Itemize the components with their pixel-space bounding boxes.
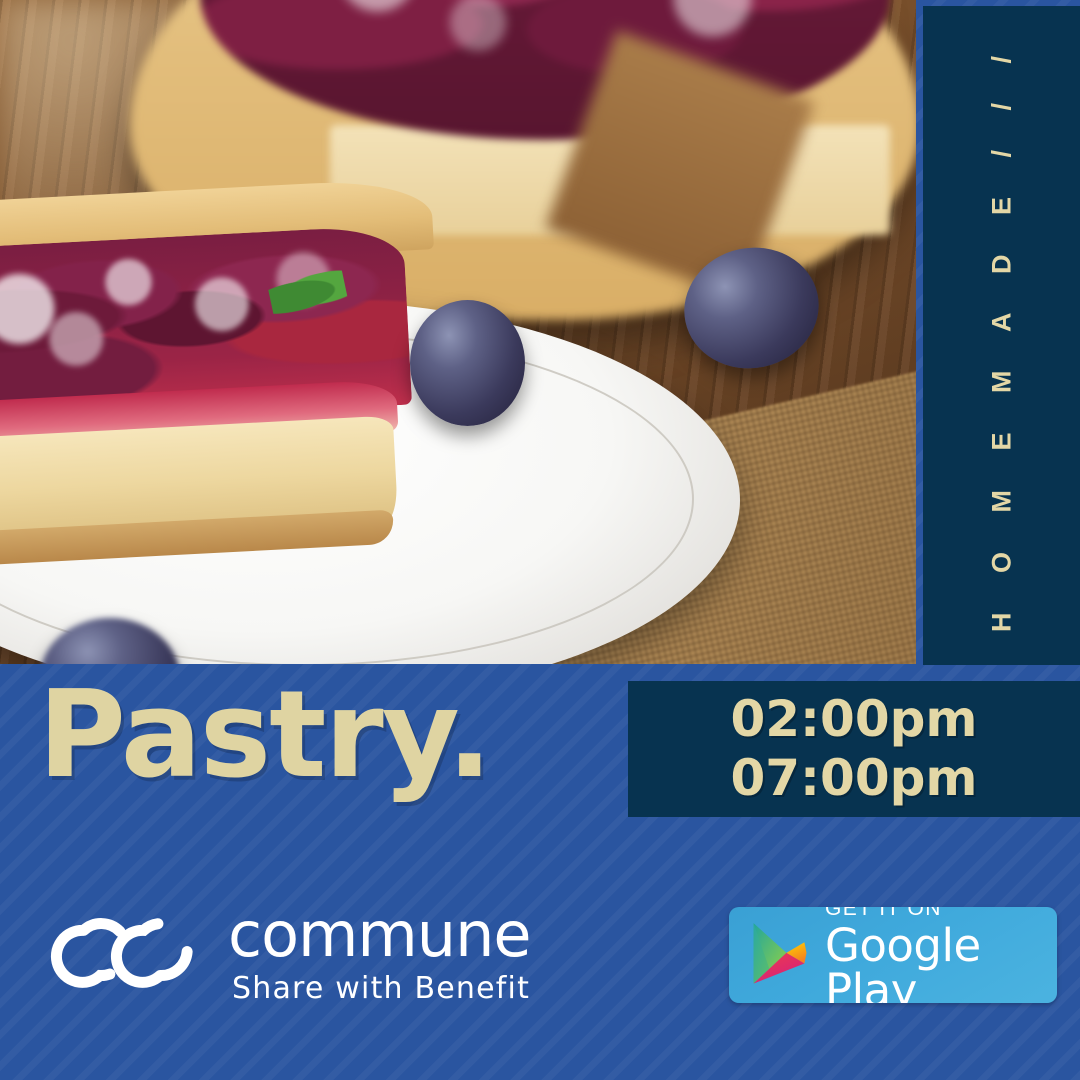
time-slot-2: 07:00pm (730, 749, 977, 808)
google-play-label: Google Play (825, 923, 1057, 1004)
slice-powdered-sugar (0, 229, 401, 403)
poster-canvas: H O M E M A D E / / / Pastry. 02:00pm 07… (0, 0, 1080, 1080)
google-play-triangle-icon (743, 920, 817, 990)
schedule-times-box: 02:00pm 07:00pm (628, 681, 1080, 817)
home-made-side-banner: H O M E M A D E / / / (923, 6, 1080, 665)
cake-slice (0, 177, 449, 563)
brand-logo-block: commune Share with Benefit (34, 900, 531, 1008)
page-title: Pastry. (38, 676, 490, 796)
home-made-label: H O M E M A D E / / / (986, 39, 1017, 631)
time-slot-1: 02:00pm (730, 690, 977, 749)
hero-food-photo (0, 0, 916, 664)
google-play-badge[interactable]: GET IT ON Google Play (729, 907, 1057, 1003)
interlocking-rings-icon (34, 900, 204, 1008)
google-play-text: GET IT ON Google Play (825, 907, 1057, 1003)
get-it-on-label: GET IT ON (825, 907, 1057, 919)
brand-name: commune (228, 904, 531, 966)
brand-wordmark: commune Share with Benefit (228, 904, 531, 1004)
plum-front (410, 300, 525, 426)
brand-tagline: Share with Benefit (232, 974, 531, 1004)
